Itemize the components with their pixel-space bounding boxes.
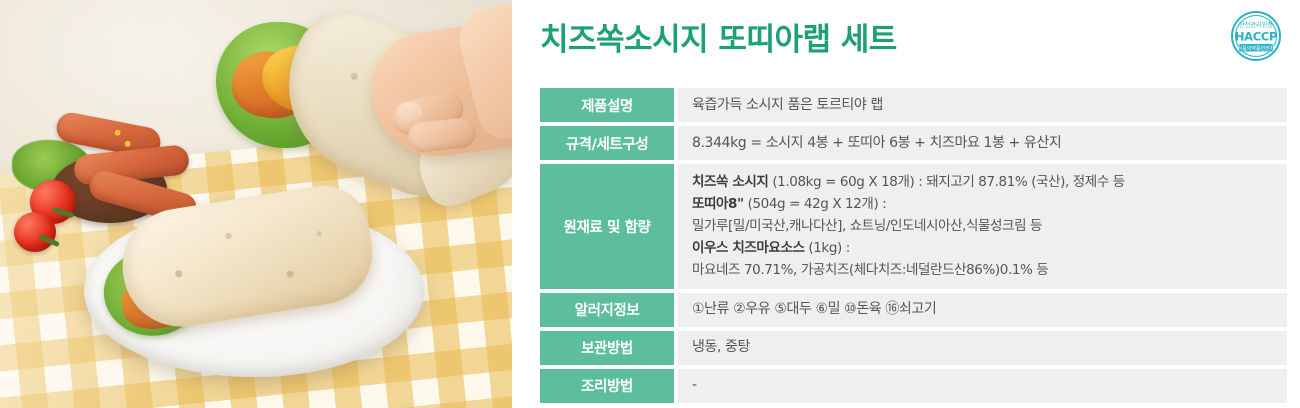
svg-text:안전관리인증: 안전관리인증 — [1239, 21, 1273, 29]
spec-value-storage-method: 냉동, 중탕 — [678, 331, 1287, 365]
svg-text:HACCP: HACCP — [1235, 30, 1277, 44]
svg-text:식품의약품안전처: 식품의약품안전처 — [1238, 45, 1275, 52]
ingredient-line: 마요네즈 70.71%, 가공치즈(체다치즈:네덜란드산86%)0.1% 등 — [692, 260, 1273, 281]
ingredient-detail: (1kg) : — [804, 240, 849, 256]
cheese-dot-icon — [114, 129, 121, 136]
spec-value-product-description: 육즙가득 소시지 품은 토르티야 랩 — [678, 88, 1287, 122]
ingredient-detail: 마요네즈 70.71%, 가공치즈(체다치즈:네덜란드산86%)0.1% 등 — [692, 262, 1048, 278]
ingredient-detail: 밀가루[밀/미국산,캐나다산], 쇼트닝/인도네시아산,식물성크림 등 — [692, 218, 1042, 234]
ingredient-detail: (1.08kg = 60g X 18개) : 돼지고기 87.81% (국산),… — [768, 174, 1124, 190]
table-row: 알러지정보 ①난류 ②우유 ⑤대두 ⑥밀 ⑩돈육 ⑯쇠고기 — [540, 293, 1287, 327]
spec-value-allergy-info: ①난류 ②우유 ⑤대두 ⑥밀 ⑩돈육 ⑯쇠고기 — [678, 293, 1287, 327]
spec-label-set-composition: 규격/세트구성 — [540, 126, 674, 160]
ingredient-name: 또띠아8" — [692, 196, 744, 212]
table-row: 원재료 및 함량 치즈쏙 소시지 (1.08kg = 60g X 18개) : … — [540, 164, 1287, 289]
haccp-badge: 안전관리인증 HACCP 식품의약품안전처 — [1226, 9, 1286, 64]
ingredient-name: 치즈쏙 소시지 — [692, 174, 768, 190]
product-photo — [0, 0, 512, 408]
tomato-stem — [52, 207, 74, 219]
page-title: 치즈쏙소시지 또띠아랩 세트 — [540, 14, 897, 59]
cherry-tomato — [14, 212, 56, 252]
ingredient-detail: (504g = 42g X 12개) : — [744, 196, 887, 212]
spec-table: 제품설명 육즙가득 소시지 품은 토르티야 랩 규격/세트구성 8.344kg … — [540, 88, 1287, 403]
table-row: 보관방법 냉동, 중탕 — [540, 331, 1287, 365]
table-row: 조리방법 - — [540, 369, 1287, 403]
spec-label-allergy-info: 알러지정보 — [540, 293, 674, 327]
spec-label-product-description: 제품설명 — [540, 88, 674, 122]
ingredient-line: 치즈쏙 소시지 (1.08kg = 60g X 18개) : 돼지고기 87.8… — [692, 172, 1273, 193]
product-info-page: 치즈쏙소시지 또띠아랩 세트 안전관리인증 HACCP 식품의약품안전처 제품설… — [0, 0, 1300, 408]
table-row: 규격/세트구성 8.344kg = 소시지 4봉 + 또띠아 6봉 + 치즈마요… — [540, 126, 1287, 160]
spec-label-ingredients: 원재료 및 함량 — [540, 164, 674, 289]
spec-value-cooking-method: - — [678, 369, 1287, 403]
ingredient-line-list: 치즈쏙 소시지 (1.08kg = 60g X 18개) : 돼지고기 87.8… — [692, 172, 1273, 281]
spec-label-storage-method: 보관방법 — [540, 331, 674, 365]
ingredient-line: 또띠아8" (504g = 42g X 12개) : — [692, 194, 1273, 215]
ingredient-line: 밀가루[밀/미국산,캐나다산], 쇼트닝/인도네시아산,식물성크림 등 — [692, 216, 1273, 237]
cheese-dot-icon — [124, 140, 131, 147]
thumbnail — [398, 102, 422, 122]
table-row: 제품설명 육즙가득 소시지 품은 토르티야 랩 — [540, 88, 1287, 122]
product-details-panel: 치즈쏙소시지 또띠아랩 세트 안전관리인증 HACCP 식품의약품안전처 제품설… — [512, 0, 1300, 408]
spec-value-ingredients: 치즈쏙 소시지 (1.08kg = 60g X 18개) : 돼지고기 87.8… — [678, 164, 1287, 289]
ingredient-name: 이우스 치즈마요소스 — [692, 240, 804, 256]
ingredient-line: 이우스 치즈마요소스 (1kg) : — [692, 238, 1273, 259]
spec-label-cooking-method: 조리방법 — [540, 369, 674, 403]
spec-value-set-composition: 8.344kg = 소시지 4봉 + 또띠아 6봉 + 치즈마요 1봉 + 유산… — [678, 126, 1287, 160]
